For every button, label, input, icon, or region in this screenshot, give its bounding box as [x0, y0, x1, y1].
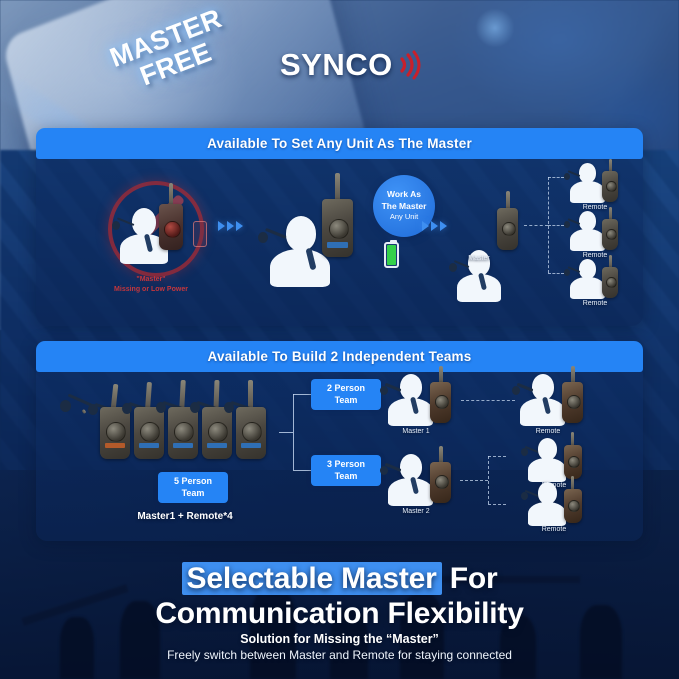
panel-two-teams: Available To Build 2 Independent Teams: [36, 341, 643, 541]
remote-caption: Remote: [560, 300, 630, 307]
tree-connector-horizontal: [548, 225, 564, 226]
sound-wave-icon: [395, 50, 421, 80]
tree-connector-horizontal: [548, 177, 564, 178]
problem-caption: "Master" Missing or Low Power: [86, 275, 216, 295]
split-bracket-branch: [293, 394, 311, 395]
synco-logo: SYNCO: [280, 47, 421, 83]
team-composition-label: Master1 + Remote*4: [110, 511, 260, 522]
panel-1-body: "Master" Missing or Low Power: [36, 159, 643, 326]
team2-connector-vertical: [488, 456, 489, 504]
split-bracket-branch: [293, 470, 311, 471]
panel-2-header: Available To Build 2 Independent Teams: [36, 341, 643, 372]
team2-connector-horizontal: [460, 480, 488, 481]
team1-connector: [461, 400, 515, 401]
split-bracket-vertical: [293, 394, 294, 470]
chevron-right-arrows-icon: [218, 221, 243, 231]
master1-caption: Master 1: [381, 428, 451, 435]
panel-1-header: Available To Set Any Unit As The Master: [36, 128, 643, 159]
remote-caption: Remote: [560, 252, 630, 259]
headline-highlight: Selectable Master: [182, 562, 442, 595]
logo-wordmark: SYNCO: [280, 47, 393, 83]
tree-connector-horizontal: [524, 225, 548, 226]
panel-2-body: 5 Person Team Master1 + Remote*4 2 Perso…: [36, 372, 643, 541]
master2-caption: Master 2: [381, 508, 451, 515]
product-infographic: MASTER FREE SYNCO Available To Set Any U…: [0, 0, 679, 679]
two-person-team-badge: 2 Person Team: [311, 379, 381, 410]
headline-rest: For: [450, 562, 498, 595]
subtitle-line-1: Solution for Missing the “Master”: [0, 632, 679, 646]
panel-any-unit-master: Available To Set Any Unit As The Master: [36, 128, 643, 326]
five-person-team-badge: 5 Person Team: [158, 472, 228, 503]
tree-connector-horizontal: [548, 273, 564, 274]
battery-full-icon: [384, 242, 399, 268]
low-power-phone-icon: [193, 221, 207, 247]
split-bracket-stem: [279, 432, 293, 433]
team2-connector-branch: [488, 456, 506, 457]
subtitle-line-2: Freely switch between Master and Remote …: [0, 648, 679, 662]
headline-line-1: Selectable Master For: [0, 562, 679, 596]
team2-connector-branch: [488, 504, 506, 505]
remote-caption: Remote: [560, 204, 630, 211]
three-person-team-badge: 3 Person Team: [311, 455, 381, 486]
master-caption: Master: [444, 255, 514, 262]
team2-remote-caption: Remote: [519, 526, 589, 533]
headline-line-2: Communication Flexibility: [0, 597, 679, 631]
chevron-right-arrows-icon: [422, 221, 447, 231]
